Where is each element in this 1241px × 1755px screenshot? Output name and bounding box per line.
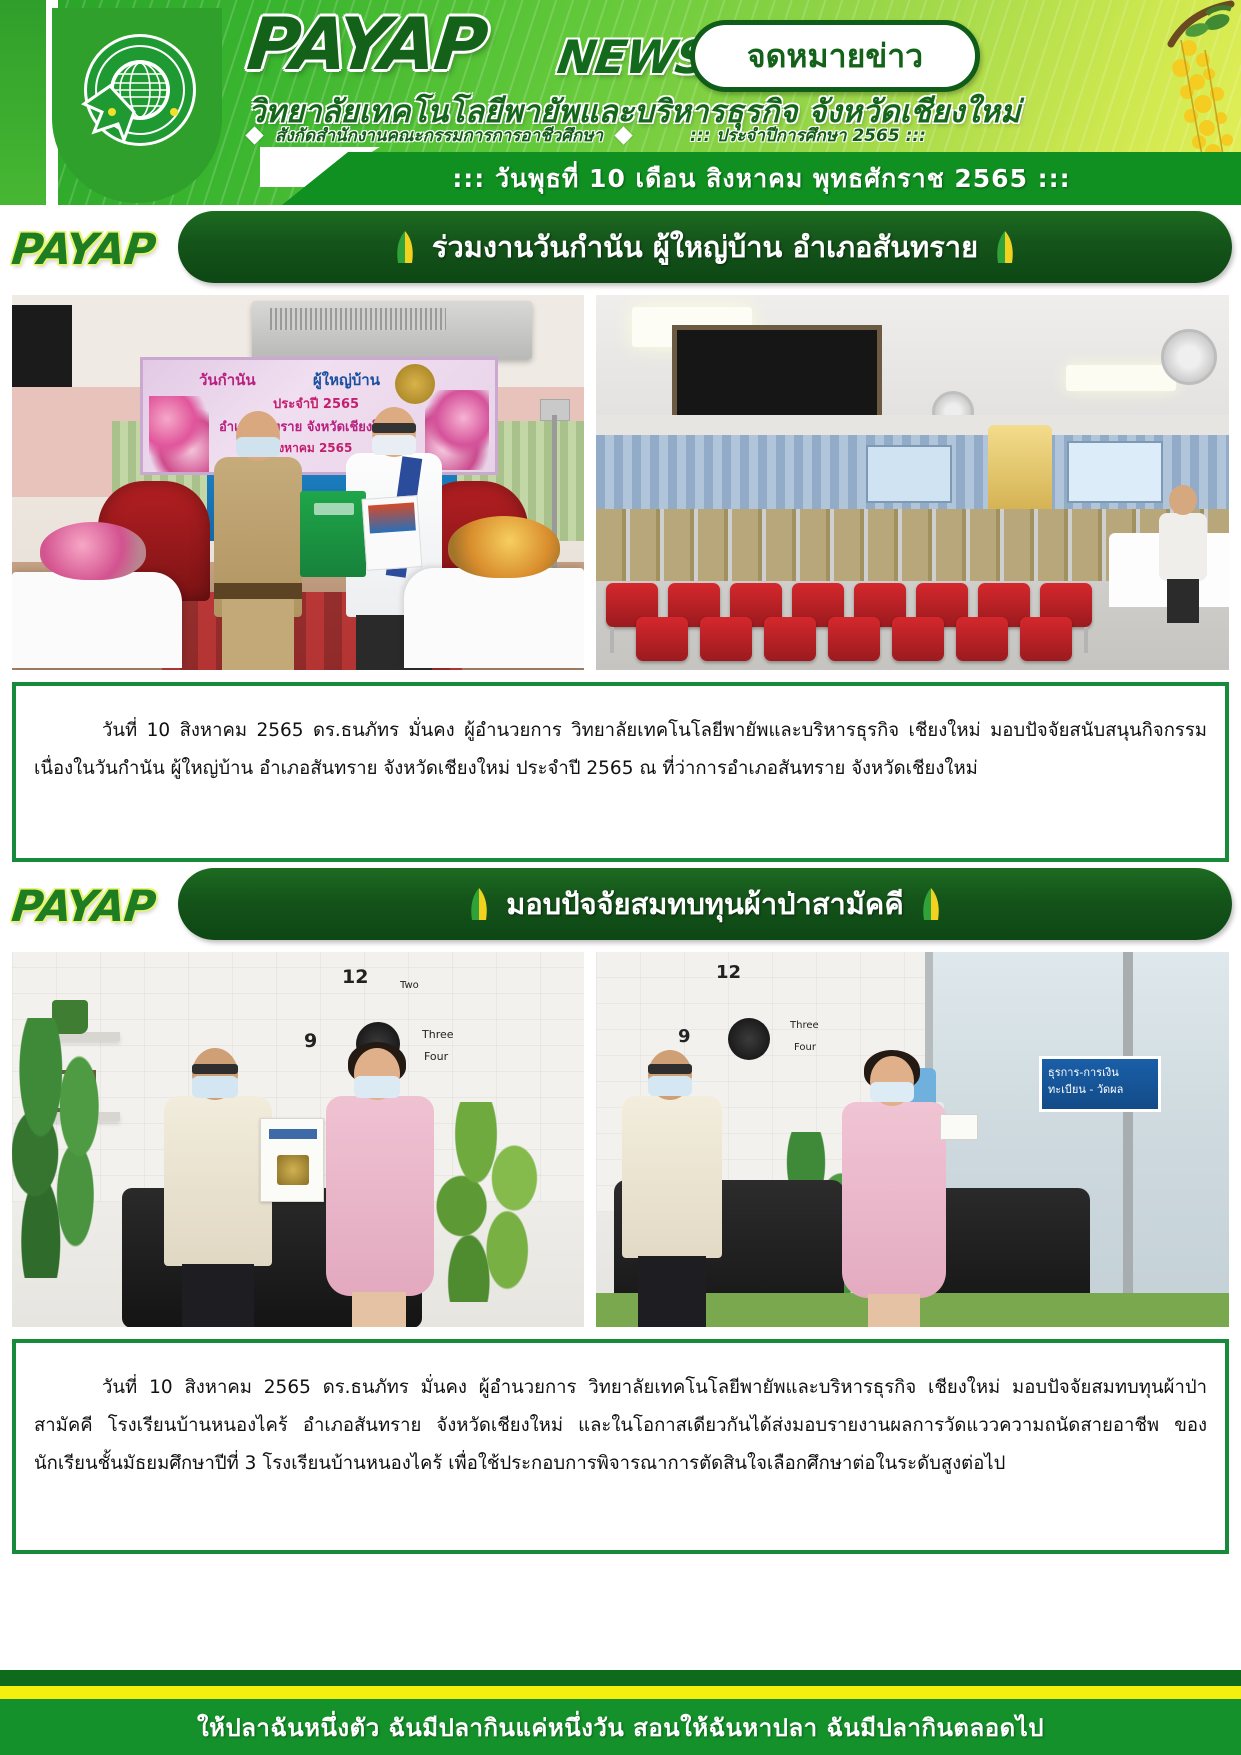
green-yellow-leaf-icon: [920, 887, 942, 921]
section-title-bar-1: ร่วมงานวันกำนัน ผู้ใหญ่บ้าน อำเภอสันทราย: [178, 211, 1232, 283]
affiliation-row: สังกัดสำนักงานคณะกรรมการการอาชีวศึกษา ::…: [248, 122, 926, 149]
standing-attendee: [1155, 485, 1211, 621]
section-header-1: PAYAP ร่วมงานวันกำนัน ผู้ใหญ่บ้าน อำเภอส…: [0, 207, 1241, 287]
teacher-standing: [840, 1056, 948, 1327]
director-standing: [620, 1050, 724, 1327]
projected-slide-left: [866, 445, 952, 503]
teacher-receiving-document: [322, 1048, 438, 1327]
clock-numeral-9: 9: [678, 1026, 691, 1047]
handover-report-document: [260, 1118, 324, 1202]
clock-numeral-3: Three: [422, 1028, 454, 1041]
clock-numeral-2: Two: [400, 980, 419, 991]
held-document: [940, 1114, 978, 1140]
diamond-bullet-icon: [614, 126, 632, 144]
newsletter-pill-badge: จดหมายข่าว: [690, 20, 980, 92]
clock-numeral-12: 12: [342, 966, 368, 988]
handed-document: [362, 495, 423, 571]
photo-office-lobby-wide: 12 9 Three Four ธุรการ-การเงิน ทะเบียน -…: [596, 952, 1229, 1327]
caption-box-1: วันที่ 10 สิงหาคม 2565 ดร.ธนภัทร มั่นคง …: [12, 682, 1229, 862]
flower-basket-left: [40, 522, 146, 580]
section-title-label-2: มอบปัจจัยสมทบทุนผ้าป่าสามัคคี: [506, 881, 903, 927]
indoor-plant-left: [12, 1018, 108, 1278]
green-gift-bag: [300, 491, 366, 577]
caption-text-2: วันที่ 10 สิงหาคม 2565 ดร.ธนภัทร มั่นคง …: [34, 1369, 1207, 1483]
director-handing-document: [162, 1048, 274, 1327]
wall-tv: [12, 305, 72, 391]
photo-row-2: 12 9 Three Four Two 12 9 Three Four: [0, 952, 1241, 1327]
office-counter-sign: ธุรการ-การเงิน ทะเบียน - วัดผล: [1039, 1056, 1161, 1112]
decorative-flowers-left: [149, 396, 209, 472]
clock-numeral-6: Four: [794, 1042, 816, 1053]
section-header-2: PAYAP มอบปัจจัยสมทบทุนผ้าป่าสามัคคี: [0, 864, 1241, 944]
draped-table-right: [404, 568, 584, 668]
office-counter-sign-text: ธุรการ-การเงิน ทะเบียน - วัดผล: [1048, 1065, 1158, 1098]
draped-table-left: [12, 572, 182, 668]
logo-container: [52, 8, 222, 198]
payap-circular-seal-globe-arrow-logo: [72, 28, 202, 158]
payap-mark-section-1: PAYAP: [9, 225, 157, 275]
photo-award-presentation-on-stage: วันกำนัน ผู้ใหญ่บ้าน ประจำปี 2565 อำเภอส…: [12, 295, 584, 670]
newsletter-header-banner: PAYAP NEWS จดหมายข่าว วิทยาลัยเทคโนโลยีพ…: [0, 0, 1241, 205]
clock-numeral-3: Three: [790, 1020, 819, 1031]
wall-fan: [1161, 329, 1217, 385]
green-yellow-leaf-icon: [468, 887, 490, 921]
footer-motto-bar: ให้ปลาฉันหนึ่งตัว ฉันมีปลากินแค่หนึ่งวัน…: [0, 1699, 1241, 1755]
footer: ให้ปลาฉันหนึ่งตัว ฉันมีปลากินแค่หนึ่งวัน…: [0, 1670, 1241, 1755]
section-title-bar-2: มอบปัจจัยสมทบทุนผ้าป่าสามัคคี: [178, 868, 1232, 940]
diamond-bullet-icon: [245, 126, 263, 144]
photo-row-1: วันกำนัน ผู้ใหญ่บ้าน ประจำปี 2565 อำเภอส…: [0, 295, 1241, 670]
payap-mark-section-2: PAYAP: [9, 882, 157, 932]
footer-top-green-bar: [0, 1670, 1241, 1686]
green-yellow-leaf-icon: [994, 230, 1016, 264]
indoor-plant-right: [428, 1102, 548, 1302]
section-title-label-1: ร่วมงานวันกำนัน ผู้ใหญ่บ้าน อำเภอสันทราย: [432, 224, 978, 270]
stage-banner-line1-right: ผู้ใหญ่บ้าน: [313, 368, 380, 392]
clock-numeral-12: 12: [716, 962, 741, 983]
brand-news-wordmark: NEWS: [554, 30, 711, 84]
official-in-khaki-uniform: [208, 411, 308, 670]
publication-date: ::: วันพุธที่ 10 เดือน สิงหาคม พุทธศักรา…: [282, 156, 1241, 201]
photo-document-handover-office: 12 9 Three Four Two: [12, 952, 584, 1327]
affiliation-label: สังกัดสำนักงานคณะกรรมการการอาชีวศึกษา: [275, 122, 603, 149]
green-yellow-leaf-icon: [394, 230, 416, 264]
caption-text-1: วันที่ 10 สิงหาคม 2565 ดร.ธนภัทร มั่นคง …: [34, 712, 1207, 788]
newsletter-pill-label: จดหมายข่าว: [747, 31, 923, 82]
projected-slide-right: [1067, 441, 1163, 503]
footer-yellow-bar: [0, 1686, 1241, 1699]
fruit-basket-right: [448, 516, 560, 578]
banner-left-green-band: [0, 0, 58, 205]
caption-box-2: วันที่ 10 สิงหาคม 2565 ดร.ธนภัทร มั่นคง …: [12, 1339, 1229, 1554]
footer-motto-text: ให้ปลาฉันหนึ่งตัว ฉันมีปลากินแค่หนึ่งวัน…: [197, 1708, 1044, 1747]
stage-banner-line1-left: วันกำนัน: [199, 368, 256, 392]
photo-meeting-hall-red-chairs: [596, 295, 1229, 670]
air-conditioner: [252, 301, 532, 359]
ceiling-light-panel: [1066, 365, 1176, 391]
clock-numeral-9: 9: [304, 1030, 317, 1052]
brand-payap-wordmark: PAYAP: [244, 8, 489, 80]
academic-year-label: ::: ประจำปีการศึกษา 2565 :::: [690, 122, 926, 149]
